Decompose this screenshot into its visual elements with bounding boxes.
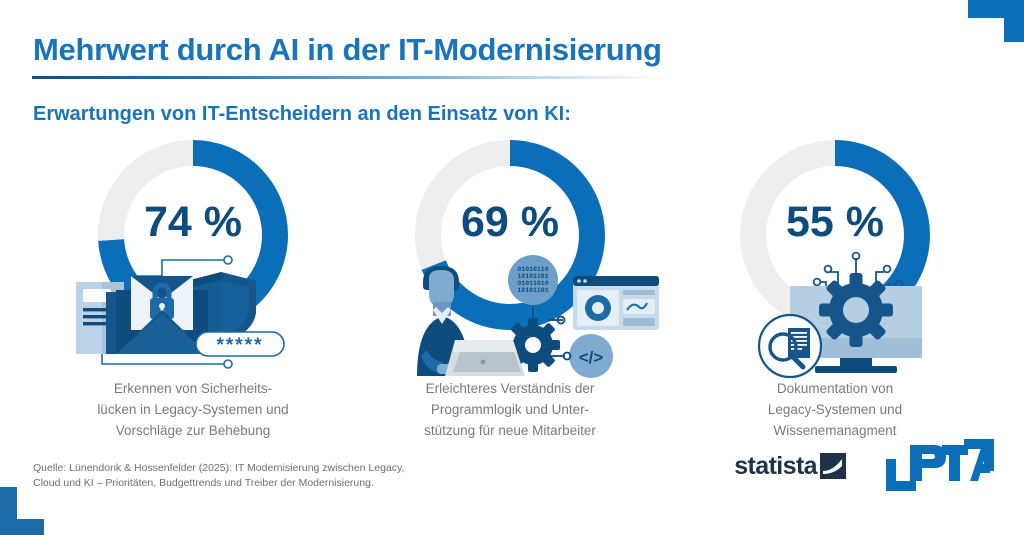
pta-logo	[884, 437, 996, 495]
source-line: Quelle: Lünendonk & Hossenfelder (2025):…	[33, 461, 404, 476]
infographic-canvas: Mehrwert durch AI in der IT-Modernisieru…	[0, 0, 1024, 535]
corner-decoration-top-right	[968, 0, 1024, 42]
logo-group: statista	[734, 437, 996, 495]
stat-caption: Dokumentation von Legacy-Systemen und Wi…	[670, 378, 1000, 441]
caption-line: Legacy-Systemen und	[670, 399, 1000, 420]
donut-chart-55: 55 %	[740, 140, 930, 330]
caption-line: Erkennen von Sicherheits-	[28, 378, 358, 399]
stat-value: 74 %	[98, 198, 288, 247]
stat-panel-documentation: 55 %	[670, 140, 1000, 450]
pta-logo-icon	[884, 437, 996, 495]
corner-bar-vertical	[1004, 0, 1024, 42]
statista-logo: statista	[734, 453, 846, 479]
page-subtitle: Erwartungen von IT-Entscheidern an den E…	[33, 103, 571, 126]
svg-text:</>: </>	[579, 348, 604, 367]
document-icon	[788, 328, 810, 358]
circuit-node	[224, 360, 232, 368]
donut-chart-74: 74 %	[98, 140, 288, 330]
statista-wordmark: statista	[734, 454, 817, 479]
donut-chart-69: 69 %	[415, 140, 605, 330]
caption-line: stützung für neue Mitarbeiter	[345, 420, 675, 441]
code-circle-icon: </>	[569, 334, 613, 378]
source-line: Cloud und KI – Prioritäten, Budgettrends…	[33, 476, 404, 491]
statista-mark-icon	[820, 453, 846, 479]
caption-line: Erleichteres Verständnis der	[345, 378, 675, 399]
password-asterisks: *****	[217, 335, 264, 356]
stat-caption: Erleichteres Verständnis der Programmlog…	[345, 378, 675, 441]
caption-line: Programmlogik und Unter-	[345, 399, 675, 420]
stat-value: 55 %	[740, 198, 930, 247]
caption-line: Dokumentation von	[670, 378, 1000, 399]
stat-panel-program-logic: 69 % 01010110 10101101 01011010 10101101	[345, 140, 675, 450]
circuit-node	[564, 353, 571, 360]
page-title: Mehrwert durch AI in der IT-Modernisieru…	[33, 32, 662, 68]
corner-bar-horizontal	[0, 519, 44, 535]
stat-panel-security: 74 %	[28, 140, 358, 450]
title-divider	[32, 76, 672, 79]
caption-line: lücken in Legacy-Systemen und	[28, 399, 358, 420]
corner-decoration-bottom-left	[0, 487, 44, 535]
caption-line: Vorschläge zur Behebung	[28, 420, 358, 441]
svg-text:*****: *****	[217, 335, 264, 356]
password-field: *****	[196, 332, 284, 356]
stat-caption: Erkennen von Sicherheits- lücken in Lega…	[28, 378, 358, 441]
source-citation: Quelle: Lünendonk & Hossenfelder (2025):…	[33, 461, 404, 491]
stat-value: 69 %	[415, 198, 605, 247]
